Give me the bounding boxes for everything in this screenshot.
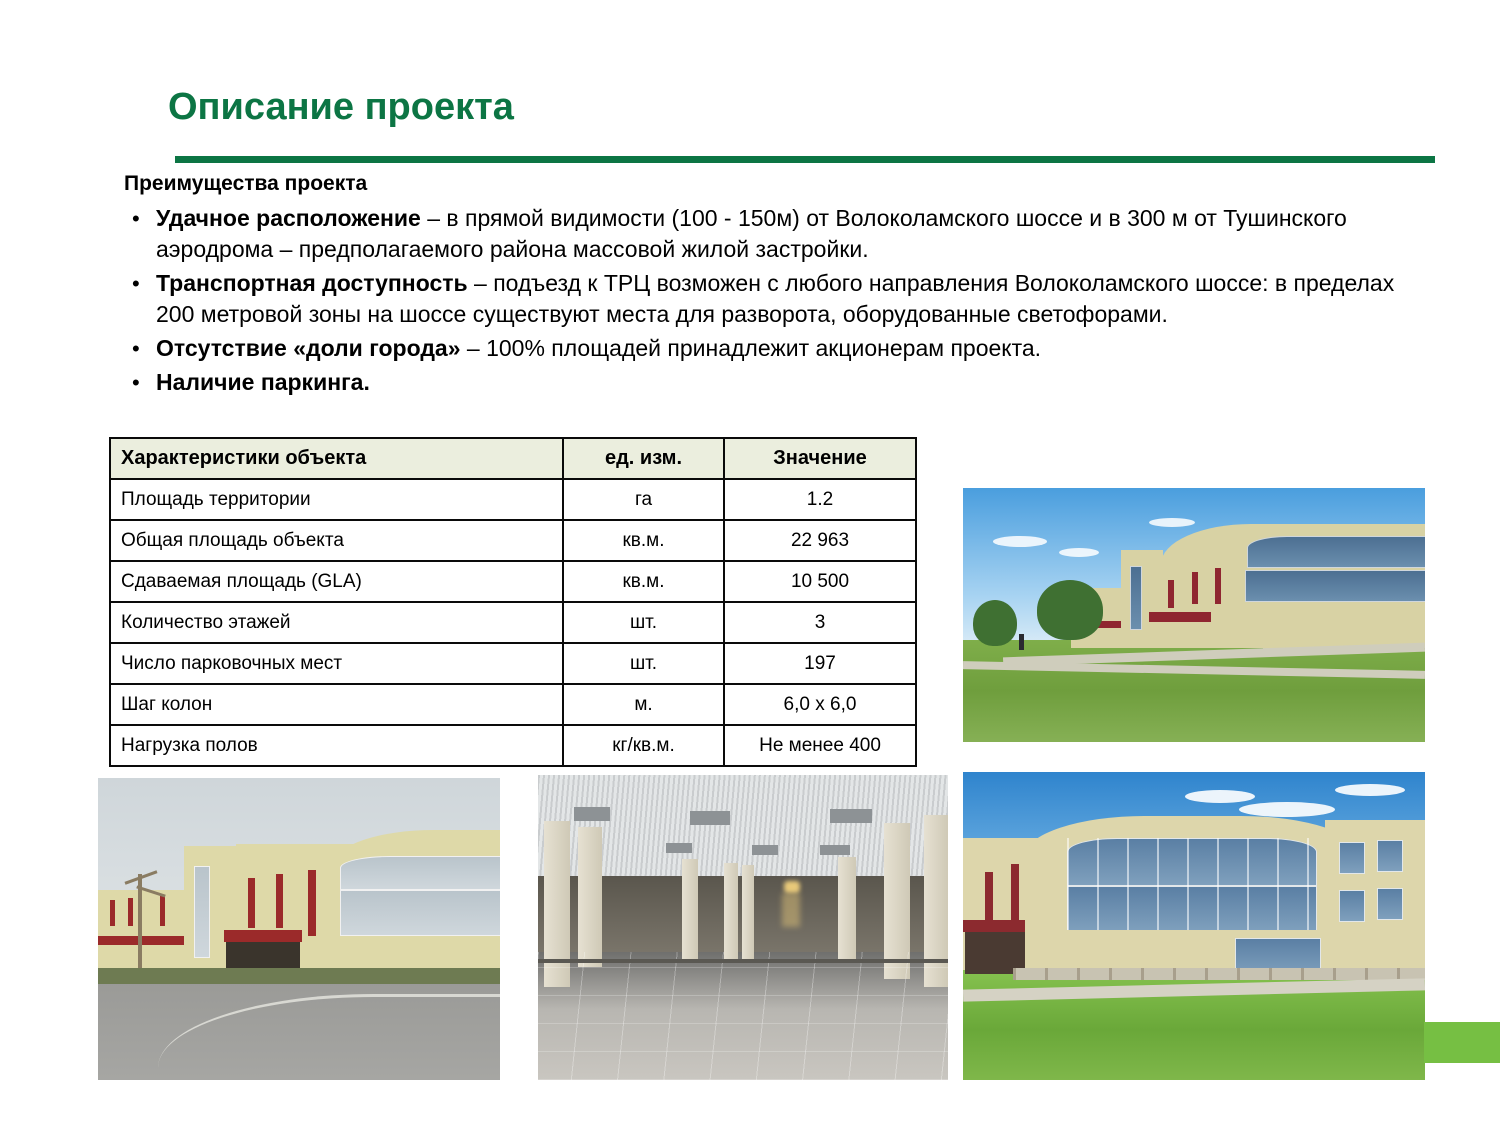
column (682, 859, 698, 963)
object-specs-table: Характеристики объекта ед. изм. Значение… (109, 437, 917, 767)
cell-characteristic: Общая площадь объекта (110, 520, 563, 561)
bullet-icon: • (124, 333, 156, 364)
red-pilaster (128, 898, 133, 926)
title-divider (175, 156, 1435, 163)
red-pilaster (1215, 568, 1221, 604)
tree-shape (973, 600, 1017, 646)
ceiling-light-panel (574, 807, 610, 821)
red-pilaster (985, 872, 993, 926)
column-header-value: Значение (724, 438, 916, 479)
table-row: Число парковочных мест шт. 197 (110, 643, 916, 684)
list-item: • Отсутствие «доли города» – 100% площад… (124, 333, 1434, 364)
red-canopy (98, 936, 194, 945)
cell-value: 10 500 (724, 561, 916, 602)
facade-glazing (1247, 536, 1425, 568)
list-item-text: Наличие паркинга. (156, 367, 1434, 398)
cell-characteristic: Площадь территории (110, 479, 563, 520)
cloud-shape (993, 536, 1047, 547)
list-item-text: Удачное расположение – в прямой видимост… (156, 203, 1434, 265)
glazing-mullions (1067, 838, 1315, 930)
cell-characteristic: Сдаваемая площадь (GLA) (110, 561, 563, 602)
cell-characteristic: Число парковочных мест (110, 643, 563, 684)
red-canopy (224, 930, 302, 942)
photo-interior-corridor (538, 775, 948, 1080)
punched-window (1377, 840, 1403, 872)
column-header-unit: ед. изм. (563, 438, 724, 479)
ceiling-light-panel (690, 811, 730, 825)
section-subheading: Преимущества проекта (124, 172, 367, 196)
person-figure (1019, 634, 1024, 650)
column (724, 863, 738, 961)
ceiling-light-panel (820, 845, 850, 855)
colonnade-column (438, 938, 452, 970)
list-item-text: Транспортная доступность – подъезд к ТРЦ… (156, 268, 1434, 330)
table-row: Количество этажей шт. 3 (110, 602, 916, 643)
cloud-shape (1059, 548, 1099, 557)
column (838, 857, 856, 963)
cloud-shape (1335, 784, 1405, 796)
cell-characteristic: Шаг колон (110, 684, 563, 725)
table-row: Нагрузка полов кг/кв.м. Не менее 400 (110, 725, 916, 766)
bullet-icon: • (124, 203, 156, 234)
cloud-shape (1149, 518, 1195, 527)
cell-unit: м. (563, 684, 724, 725)
floor-tile-grid (538, 952, 948, 1080)
colonnade-column (1263, 618, 1275, 650)
column (742, 865, 754, 961)
tree-shape (1037, 580, 1103, 640)
cell-characteristic: Нагрузка полов (110, 725, 563, 766)
floor-light-reflection (782, 893, 800, 927)
red-canopy (1149, 612, 1211, 622)
bollard-gaps (1013, 968, 1425, 980)
bullet-icon: • (124, 367, 156, 398)
punched-window (1377, 888, 1403, 920)
accent-block (1424, 1022, 1500, 1063)
advantages-list: • Удачное расположение – в прямой видимо… (124, 203, 1434, 401)
cell-unit: шт. (563, 643, 724, 684)
column (578, 827, 602, 967)
red-pilaster (1011, 864, 1019, 922)
list-item-lead: Удачное расположение (156, 205, 421, 231)
table-row: Общая площадь объекта кв.м. 22 963 (110, 520, 916, 561)
cloud-shape (1239, 802, 1335, 817)
tower-glazing (194, 866, 210, 958)
list-item-lead: Транспортная доступность (156, 270, 468, 296)
photo-exterior-sunny-1 (963, 488, 1425, 742)
ceiling-light-panel (830, 809, 872, 823)
table-row: Площадь территории га 1.2 (110, 479, 916, 520)
colonnade-column (388, 938, 402, 970)
cell-unit: кв.м. (563, 561, 724, 602)
cell-unit: кв.м. (563, 520, 724, 561)
facade-spandrel (338, 936, 500, 970)
cell-value: 6,0 х 6,0 (724, 684, 916, 725)
cell-value: 197 (724, 643, 916, 684)
facade-glazing (1245, 570, 1425, 602)
red-pilaster (1192, 572, 1198, 604)
list-item-text: Отсутствие «доли города» – 100% площадей… (156, 333, 1434, 364)
corridor-end-light (784, 881, 800, 893)
facade-glazing (340, 890, 500, 936)
list-item-lead: Отсутствие «доли города» (156, 335, 461, 361)
table-row: Сдаваемая площадь (GLA) кв.м. 10 500 (110, 561, 916, 602)
page-title: Описание проекта (168, 86, 514, 129)
cell-characteristic: Количество этажей (110, 602, 563, 643)
list-item-lead: Наличие паркинга. (156, 369, 370, 395)
red-pilaster (276, 874, 283, 928)
cloud-shape (1185, 790, 1255, 803)
facade-spandrel (1243, 602, 1425, 618)
list-item: • Удачное расположение – в прямой видимо… (124, 203, 1434, 265)
red-pilaster (308, 870, 316, 936)
cell-unit: кг/кв.м. (563, 725, 724, 766)
ceiling-light-panel (666, 843, 692, 853)
cell-value: 1.2 (724, 479, 916, 520)
facade-glazing (340, 856, 500, 890)
table-row: Шаг колон м. 6,0 х 6,0 (110, 684, 916, 725)
photo-exterior-sunny-2 (963, 772, 1425, 1080)
list-item-body: – 100% площадей принадлежит акционерам п… (461, 335, 1042, 361)
tower-glazing (1130, 566, 1142, 630)
cell-value: Не менее 400 (724, 725, 916, 766)
red-pilaster (110, 900, 115, 926)
list-item: • Наличие паркинга. (124, 367, 1434, 398)
building-tower (1121, 550, 1163, 648)
entrance-recess (226, 942, 300, 970)
red-pilaster (160, 896, 165, 926)
floor-seam (538, 959, 948, 963)
list-item: • Транспортная доступность – подъезд к Т… (124, 268, 1434, 330)
grass-verge (98, 968, 500, 984)
cell-value: 3 (724, 602, 916, 643)
red-pilaster (1168, 580, 1174, 608)
punched-window (1339, 890, 1365, 922)
ceiling-light-panel (752, 845, 778, 855)
cell-value: 22 963 (724, 520, 916, 561)
bullet-icon: • (124, 268, 156, 299)
red-pilaster (248, 878, 255, 928)
table-header-row: Характеристики объекта ед. изм. Значение (110, 438, 916, 479)
photo-exterior-overcast (98, 778, 500, 1080)
column-header-characteristic: Характеристики объекта (110, 438, 563, 479)
cell-unit: шт. (563, 602, 724, 643)
punched-window (1339, 842, 1365, 874)
cell-unit: га (563, 479, 724, 520)
